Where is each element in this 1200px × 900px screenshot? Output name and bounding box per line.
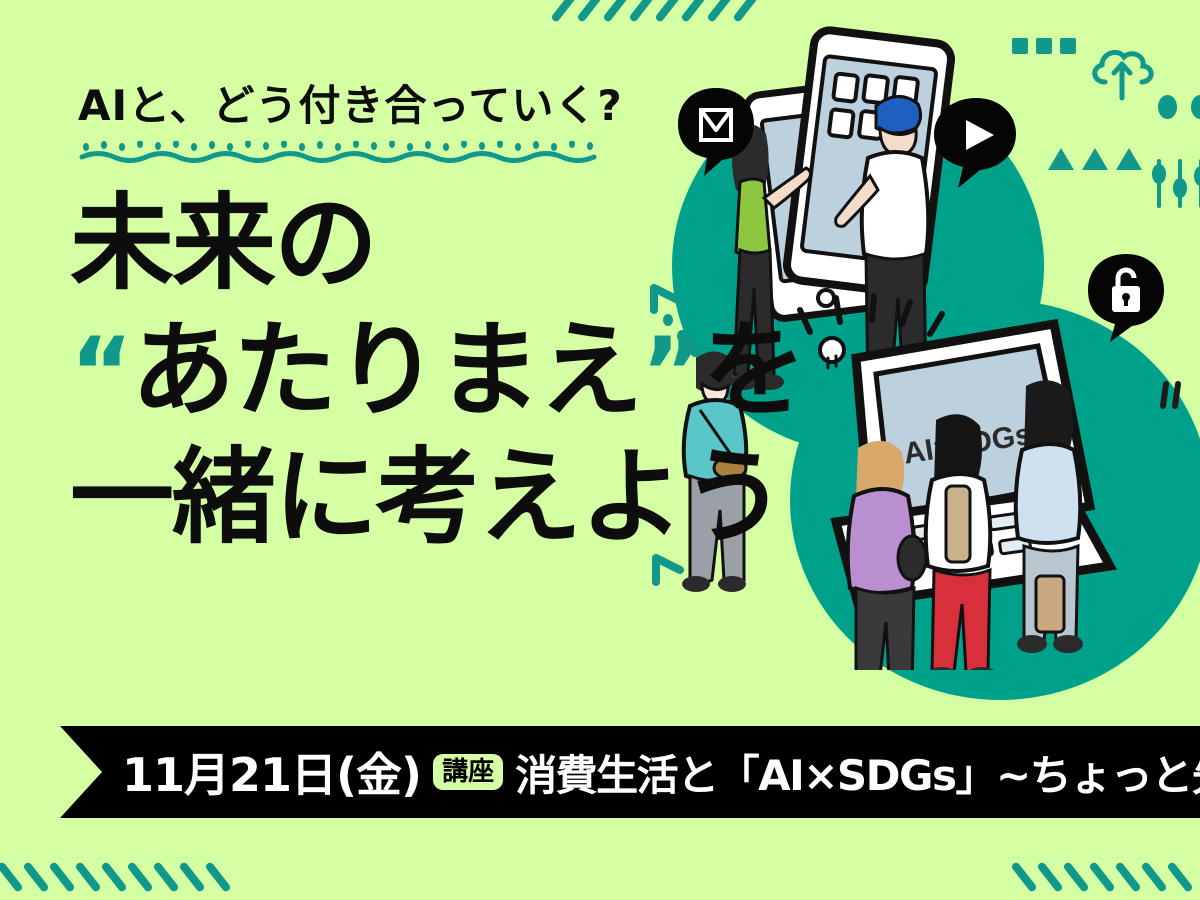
wavy-underline-decoration: [78, 141, 608, 163]
title-line-2-text: あたりまえ: [131, 309, 641, 431]
stripe-decoration-bottom-right: [1020, 860, 1200, 894]
event-category-badge: 講座: [433, 754, 503, 790]
title-line-2: “あたりまえ”を: [70, 307, 750, 434]
person-light-blue: [1016, 380, 1083, 653]
main-title-block: 未来の “あたりまえ”を 一緒に考えよう: [70, 180, 750, 561]
poster-banner: AI×SDGs: [0, 0, 1200, 900]
open-quote: “: [70, 317, 131, 429]
title-line-2-suffix: を: [702, 309, 804, 431]
event-banner: 11月21日(金) 講座 消費生活と「AI×SDGs」~ちょっと先の私たちの生活…: [60, 726, 1200, 818]
event-date: 11月21日(金): [122, 739, 421, 805]
stripe-decoration-bottom-left: [6, 860, 240, 894]
kicker-block: AIと、どう付き合っていく?: [78, 72, 678, 168]
close-quote: ”: [641, 317, 702, 429]
kicker-text: AIと、どう付き合っていく?: [78, 72, 678, 133]
event-title: 消費生活と「AI×SDGs」~ちょっと先の私たちの生活~: [515, 742, 1200, 803]
lightbulb-icon: [820, 338, 844, 368]
title-line-1: 未来の: [70, 180, 750, 307]
title-line-3: 一緒に考えよう: [70, 434, 750, 561]
